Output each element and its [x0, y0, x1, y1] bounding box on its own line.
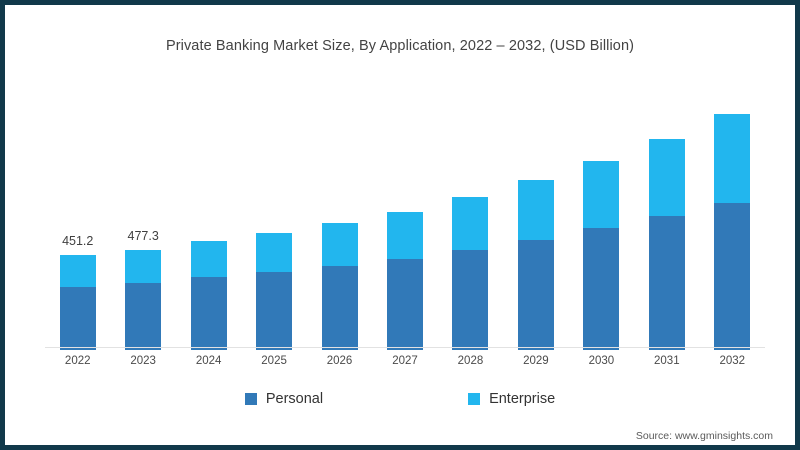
bar-segment-enterprise[interactable]: [518, 180, 554, 239]
chart-frame: Private Banking Market Size, By Applicat…: [0, 0, 800, 450]
bar-column[interactable]: [649, 139, 685, 350]
bar-column[interactable]: 451.2: [60, 255, 96, 350]
x-axis-tick-2030: 2030: [566, 355, 636, 367]
x-axis-tick-2027: 2027: [370, 355, 440, 367]
x-axis-tick-2025: 2025: [239, 355, 309, 367]
bar-value-label: 451.2: [62, 234, 93, 248]
bar-segment-personal[interactable]: [452, 250, 488, 350]
x-axis-tick-2031: 2031: [632, 355, 702, 367]
bar-segment-enterprise[interactable]: [714, 114, 750, 202]
bar-column[interactable]: [387, 212, 423, 350]
x-axis-line: [45, 347, 765, 348]
x-axis-tick-2023: 2023: [108, 355, 178, 367]
bar-column[interactable]: 477.3: [125, 250, 161, 350]
bar-segment-personal[interactable]: [322, 266, 358, 350]
x-axis-tick-2022: 2022: [43, 355, 113, 367]
plot-area: 451.2477.3: [45, 75, 765, 350]
bar-segment-personal[interactable]: [60, 287, 96, 350]
bar-segment-enterprise[interactable]: [125, 250, 161, 283]
bar-segment-personal[interactable]: [583, 228, 619, 350]
bar-segment-personal[interactable]: [125, 283, 161, 350]
legend-item-personal[interactable]: Personal: [245, 391, 323, 407]
source-attribution: Source: www.gminsights.com: [636, 430, 773, 442]
bar-column[interactable]: [191, 241, 227, 350]
x-axis-tick-2028: 2028: [435, 355, 505, 367]
bar-segment-personal[interactable]: [649, 216, 685, 350]
bar-segment-personal[interactable]: [256, 272, 292, 350]
bar-segment-personal[interactable]: [518, 240, 554, 350]
bar-segment-personal[interactable]: [387, 259, 423, 350]
bar-segment-enterprise[interactable]: [60, 255, 96, 287]
bar-segment-enterprise[interactable]: [649, 139, 685, 215]
bar-column[interactable]: [452, 197, 488, 350]
bar-segment-enterprise[interactable]: [387, 212, 423, 259]
legend-swatch-enterprise: [468, 393, 480, 405]
bar-value-label: 477.3: [128, 229, 159, 243]
bar-segment-enterprise[interactable]: [256, 233, 292, 272]
chart-title: Private Banking Market Size, By Applicat…: [5, 38, 795, 54]
legend-label-enterprise: Enterprise: [489, 391, 555, 407]
bar-column[interactable]: [714, 114, 750, 350]
bar-segment-enterprise[interactable]: [191, 241, 227, 277]
bar-segment-personal[interactable]: [714, 203, 750, 350]
x-axis-tick-2032: 2032: [697, 355, 767, 367]
bar-column[interactable]: [256, 233, 292, 350]
x-axis-tick-2029: 2029: [501, 355, 571, 367]
legend-swatch-personal: [245, 393, 257, 405]
x-axis-tick-2024: 2024: [174, 355, 244, 367]
chart-legend: Personal Enterprise: [5, 391, 795, 407]
bar-segment-enterprise[interactable]: [452, 197, 488, 249]
bar-column[interactable]: [583, 161, 619, 350]
x-axis-tick-2026: 2026: [305, 355, 375, 367]
bar-segment-personal[interactable]: [191, 277, 227, 350]
legend-item-enterprise[interactable]: Enterprise: [468, 391, 555, 407]
bar-column[interactable]: [322, 223, 358, 350]
bar-segment-enterprise[interactable]: [322, 223, 358, 266]
legend-label-personal: Personal: [266, 391, 323, 407]
bar-column[interactable]: [518, 180, 554, 350]
bar-segment-enterprise[interactable]: [583, 161, 619, 228]
